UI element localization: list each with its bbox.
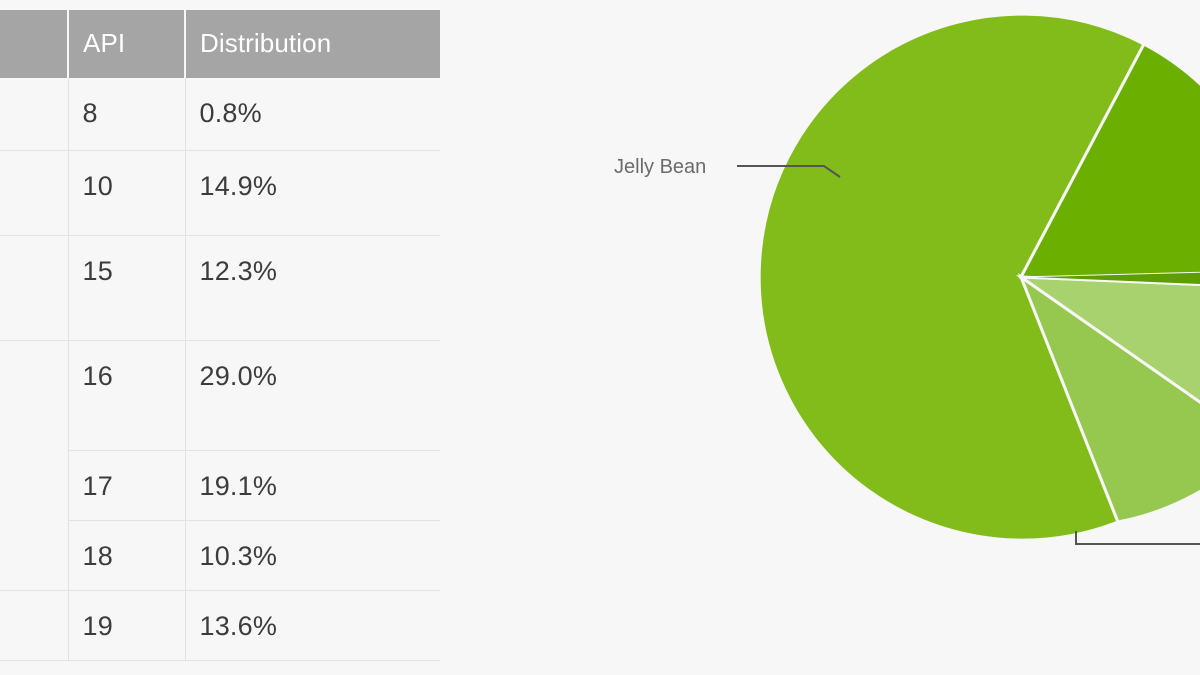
cell-api: 8 xyxy=(68,78,185,150)
table-row: Jelly Bean 16 29.0% xyxy=(0,340,440,450)
table-row: Ice Cream Sandwich 15 12.3% xyxy=(0,235,440,340)
platform-versions-table: Codename API Distribution Froyo 8 0.8% G… xyxy=(0,10,440,661)
cell-distribution: 13.6% xyxy=(185,590,440,660)
leader-offscreen-right xyxy=(1076,531,1200,544)
table-row: Gingerbread 10 14.9% xyxy=(0,150,440,235)
cell-api: 18 xyxy=(68,520,185,590)
table-row: KitKat 19 13.6% xyxy=(0,590,440,660)
cell-codename: Ice Cream Sandwich xyxy=(0,235,68,340)
table-row: Froyo 8 0.8% xyxy=(0,78,440,150)
distribution-table-container: Codename API Distribution Froyo 8 0.8% G… xyxy=(0,0,440,675)
cell-api: 19 xyxy=(68,590,185,660)
column-header-codename: Codename xyxy=(0,10,68,78)
column-header-distribution: Distribution xyxy=(185,10,440,78)
cell-api: 15 xyxy=(68,235,185,340)
cell-codename: Jelly Bean xyxy=(0,340,68,590)
cell-codename: KitKat xyxy=(0,590,68,660)
pie-label-jelly-bean: Jelly Bean xyxy=(614,156,706,178)
leader-line-clipped xyxy=(1076,531,1200,544)
cell-codename: Froyo xyxy=(0,78,68,150)
table-header-row: Codename API Distribution xyxy=(0,10,440,78)
pie-slices xyxy=(759,14,1200,540)
column-header-api: API xyxy=(68,10,185,78)
cell-distribution: 14.9% xyxy=(185,150,440,235)
cell-codename: Gingerbread xyxy=(0,150,68,235)
cell-distribution: 0.8% xyxy=(185,78,440,150)
cell-api: 17 xyxy=(68,450,185,520)
cell-distribution: 29.0% xyxy=(185,340,440,450)
cell-distribution: 12.3% xyxy=(185,235,440,340)
cell-api: 16 xyxy=(68,340,185,450)
distribution-pie-chart: Jelly Bean xyxy=(440,0,1200,675)
cell-distribution: 19.1% xyxy=(185,450,440,520)
pie-chart-svg: Jelly Bean xyxy=(440,0,1200,675)
cell-api: 10 xyxy=(68,150,185,235)
cell-distribution: 10.3% xyxy=(185,520,440,590)
